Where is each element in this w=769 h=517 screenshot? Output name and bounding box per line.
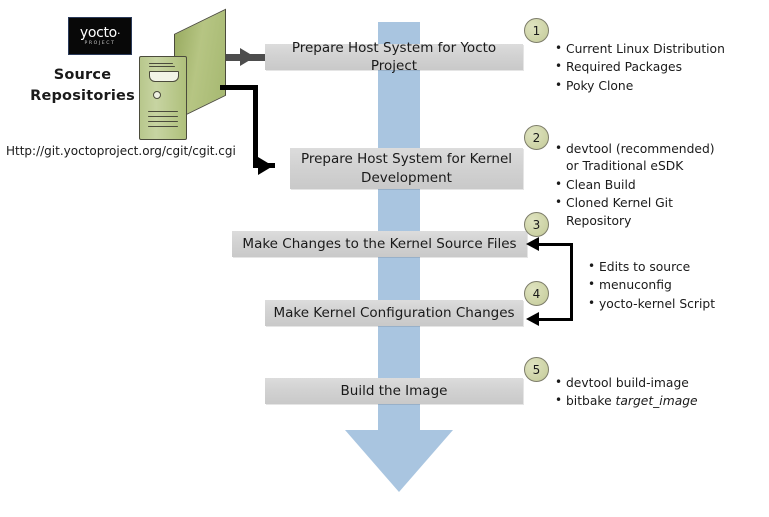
process-box-step-2-label: Prepare Host System for Kernel Developme… (298, 150, 515, 186)
server-vent-line (149, 66, 175, 67)
yocto-logo-subtext: PROJECT (84, 42, 115, 47)
step-number-5-label: 5 (533, 363, 541, 377)
process-box-step-4[interactable]: Make Kernel Configuration Changes (265, 300, 523, 326)
bullet-item: Current Linux Distribution (566, 41, 757, 58)
process-box-step-1[interactable]: Prepare Host System for Yocto Project (265, 44, 523, 70)
step-number-badge-5: 5 (524, 357, 549, 382)
bullet-item: Edits to source (599, 259, 765, 276)
arrowhead-to-step1-icon (240, 48, 255, 66)
diagram-canvas: yocto· PROJECT Source Repositories Http:… (0, 0, 769, 517)
source-label-line-2: Repositories (30, 86, 135, 107)
source-label-line-1: Source (30, 65, 135, 86)
process-box-step-5-label: Build the Image (341, 382, 448, 400)
server-tower-icon (134, 34, 230, 138)
bullet-item-command: bitbake (566, 394, 616, 408)
bullet-item: Poky Clone (566, 78, 757, 95)
bullet-item: Required Packages (566, 59, 757, 76)
bullet-list-step-2: devtool (recommended) or Traditional eSD… (552, 141, 727, 231)
bullet-list-step-5: devtool build-image bitbake target_image (552, 375, 752, 412)
bullet-item: bitbake target_image (566, 393, 752, 410)
bullet-item: yocto-kernel Script (599, 296, 765, 313)
bullet-item: devtool build-image (566, 375, 752, 392)
server-vent-line (148, 121, 178, 122)
step-number-badge-1: 1 (524, 18, 549, 43)
server-drive-slot (149, 71, 179, 82)
bullet-item-emphasis: target_image (616, 394, 698, 408)
bullet-item: Clean Build (566, 177, 727, 194)
step-number-badge-4: 4 (524, 281, 549, 306)
bullet-item: devtool (recommended) or Traditional eSD… (566, 141, 727, 176)
arrowhead-to-step4-icon (526, 312, 539, 326)
step-number-badge-2: 2 (524, 125, 549, 150)
yocto-project-logo: yocto· PROJECT (68, 17, 132, 55)
step-number-1-label: 1 (533, 24, 541, 38)
bullet-list-steps-3-and-4: Edits to source menuconfig yocto-kernel … (585, 259, 765, 314)
process-box-step-2[interactable]: Prepare Host System for Kernel Developme… (290, 148, 523, 189)
server-vent-line (148, 126, 178, 127)
server-power-led (153, 91, 161, 99)
bullet-item: Cloned Kernel Git Repository (566, 195, 727, 230)
server-front-panel (139, 56, 187, 140)
process-box-step-3-label: Make Changes to the Kernel Source Files (242, 235, 516, 253)
step-number-badge-3: 3 (524, 212, 549, 237)
server-vent-line (148, 111, 178, 112)
bracket-vertical-steps-3-4 (570, 243, 573, 321)
process-box-step-1-label: Prepare Host System for Yocto Project (273, 39, 515, 75)
step-number-4-label: 4 (533, 287, 541, 301)
yocto-logo-wordmark: yocto· (80, 26, 120, 40)
arrowhead-to-step2-icon (258, 157, 273, 175)
process-box-step-4-label: Make Kernel Configuration Changes (273, 304, 514, 322)
source-repository-url: Http://git.yoctoproject.org/cgit/cgit.cg… (6, 144, 236, 158)
bracket-branch-to-step4 (537, 318, 573, 321)
step-number-2-label: 2 (533, 131, 541, 145)
main-flow-arrow-head-icon (345, 430, 453, 492)
source-repositories-label: Source Repositories (30, 65, 135, 107)
main-flow-arrow-shaft (378, 22, 420, 432)
bullet-list-step-1: Current Linux Distribution Required Pack… (552, 41, 757, 96)
server-vent-line (148, 116, 178, 117)
step-number-3-label: 3 (533, 218, 541, 232)
bullet-item: menuconfig (599, 277, 765, 294)
connector-server-to-step2-vertical (253, 85, 258, 168)
bracket-branch-to-step3 (537, 243, 573, 246)
process-box-step-5[interactable]: Build the Image (265, 378, 523, 404)
server-vent-line (149, 63, 173, 64)
arrowhead-to-step3-icon (526, 237, 539, 251)
process-box-step-3[interactable]: Make Changes to the Kernel Source Files (232, 231, 527, 257)
